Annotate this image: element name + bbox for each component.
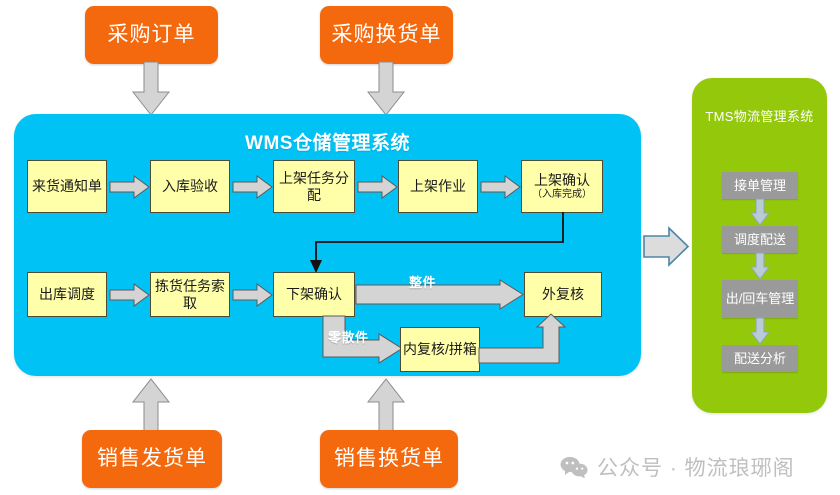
arrow-receiving-to-putaway-task — [233, 175, 273, 199]
document-label: 采购换货单 — [332, 23, 442, 47]
tms-step-label: 出/回车管理 — [726, 291, 795, 307]
node-label: 上架任务分配 — [274, 170, 354, 202]
node-putaway-task-allocation[interactable]: 上架任务分配 — [273, 160, 355, 213]
node-pick-task-claim[interactable]: 拣货任务索取 — [150, 272, 230, 317]
node-label: 出库调度 — [39, 286, 95, 302]
node-label: 内复核/拼箱 — [403, 341, 477, 357]
node-inbound-inspection[interactable]: 入库验收 — [150, 160, 230, 213]
node-sublabel: （入库完成） — [532, 189, 592, 201]
watermark: 公众号 · 物流琅琊阁 — [560, 452, 795, 482]
node-label: 上架作业 — [410, 178, 466, 194]
tms-step-order-intake[interactable]: 接单管理 — [722, 172, 798, 199]
node-pickdown-confirm[interactable]: 下架确认 — [273, 272, 355, 317]
node-putaway-confirm[interactable]: 上架确认 （入库完成） — [521, 160, 603, 213]
arrow-inner-check-to-outer-check — [479, 314, 565, 364]
arrow-pick-task-to-pickdown-confirm — [233, 283, 273, 307]
document-sales-exchange-order[interactable]: 销售换货单 — [320, 430, 458, 488]
arrow-putaway-op-to-confirm — [481, 175, 521, 199]
tms-step-label: 配送分析 — [734, 351, 786, 367]
arrow-down-purchase-order — [131, 62, 171, 116]
tms-step-vehicle-out-return-management[interactable]: 出/回车管理 — [722, 280, 798, 318]
node-arrival-notice[interactable]: 来货通知单 — [27, 160, 107, 213]
node-label: 外复核 — [542, 286, 584, 302]
node-outbound-dispatch[interactable]: 出库调度 — [27, 272, 107, 317]
connector-putaway-to-pickdown — [310, 212, 570, 276]
node-outer-check[interactable]: 外复核 — [524, 272, 602, 317]
arrow-label-whole-piece: 整件 — [409, 272, 436, 291]
node-label: 下架确认 — [286, 286, 342, 302]
node-label: 入库验收 — [162, 178, 218, 194]
tms-step-label: 调度配送 — [734, 232, 786, 248]
arrow-putaway-task-to-putaway-op — [358, 175, 398, 199]
arrow-up-sales-exchange-order — [366, 378, 406, 432]
watermark-text: 公众号 · 物流琅琊阁 — [597, 452, 795, 482]
arrow-down-purchase-exchange-order — [366, 62, 406, 116]
node-putaway-operation[interactable]: 上架作业 — [398, 160, 478, 213]
document-label: 采购订单 — [108, 23, 196, 47]
document-label: 销售换货单 — [334, 447, 444, 471]
arrow-tms-step-3-to-4 — [750, 318, 770, 345]
wms-panel-title: WMS仓储管理系统 — [14, 128, 641, 155]
arrow-tms-step-1-to-2 — [750, 199, 770, 226]
node-label: 来货通知单 — [32, 178, 102, 194]
arrow-up-sales-delivery-order — [131, 378, 171, 432]
arrow-label-loose-piece: 零散件 — [328, 327, 369, 346]
node-label: 拣货任务索取 — [151, 278, 229, 310]
tms-panel-title: TMS物流管理系统 — [702, 108, 817, 126]
arrow-wms-to-tms — [644, 226, 689, 268]
tms-step-dispatch-delivery[interactable]: 调度配送 — [722, 226, 798, 253]
document-purchase-exchange-order[interactable]: 采购换货单 — [320, 6, 453, 64]
tms-step-label: 接单管理 — [734, 178, 786, 194]
diagram-canvas: 采购订单 采购换货单 WMS仓储管理系统 来货通知单 入库验收 上架任务分配 — [0, 0, 840, 495]
node-inner-check-consolidation[interactable]: 内复核/拼箱 — [400, 327, 480, 372]
wechat-icon — [560, 456, 588, 478]
arrow-tms-step-2-to-3 — [750, 253, 770, 280]
document-sales-delivery-order[interactable]: 销售发货单 — [82, 430, 222, 488]
document-purchase-order[interactable]: 采购订单 — [85, 6, 218, 64]
arrow-dispatch-to-pick-task — [110, 283, 150, 307]
arrow-whole-piece-to-outer-check — [356, 280, 524, 312]
tms-step-delivery-analysis[interactable]: 配送分析 — [722, 345, 798, 372]
arrow-arrival-to-receiving — [110, 175, 150, 199]
node-label: 上架确认 — [534, 172, 590, 188]
document-label: 销售发货单 — [97, 447, 207, 471]
